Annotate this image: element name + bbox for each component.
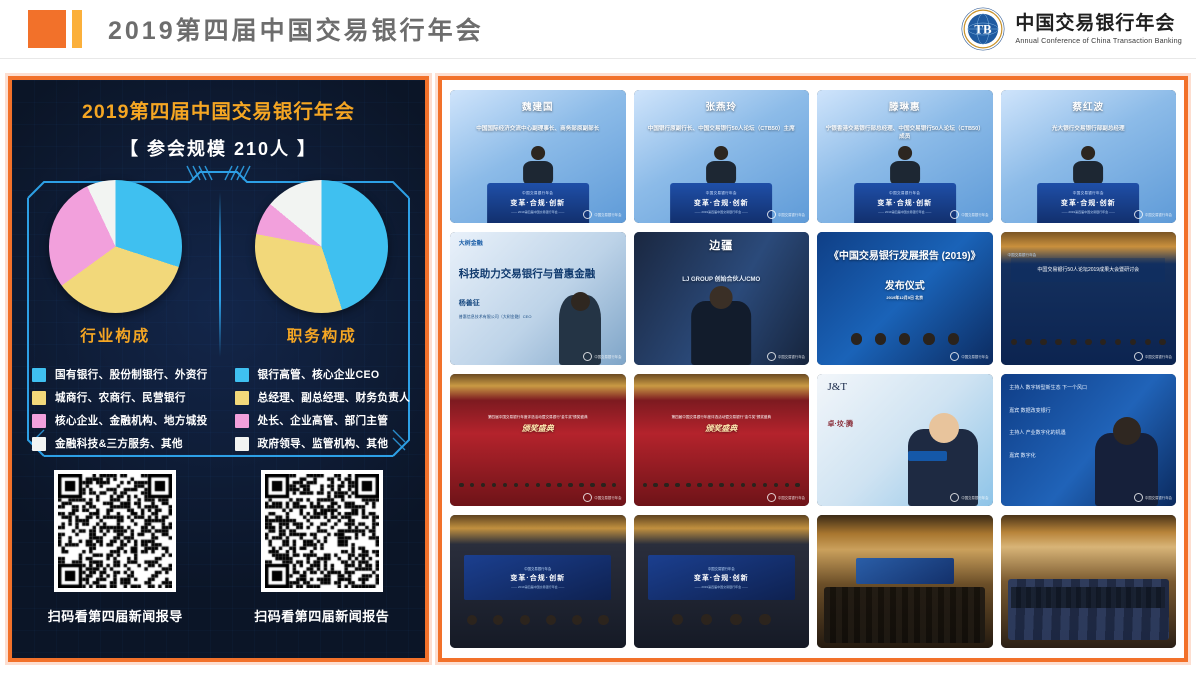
group-person: [555, 483, 564, 488]
group-person: [610, 483, 619, 488]
tb-emblem-icon: TB: [960, 6, 1006, 52]
legend-label: 城商行、农商行、民营银行: [55, 390, 186, 405]
legend-label: 总经理、副总经理、财务负责人: [258, 390, 411, 405]
speaker-role: 宁银香港交易银行部总经理、中国交易银行50人论坛（CTB50）成员: [817, 125, 993, 142]
legend-label: 处长、企业高管、部门主管: [258, 413, 389, 428]
slide-line: 嘉宾 数据改变银行: [1009, 407, 1050, 414]
group-person: [684, 483, 693, 488]
podium: 中国交易银行年会 变革·合规·创新 —— 2019第四届中国交易银行年会 ——: [670, 183, 772, 223]
panelist: [694, 614, 720, 627]
podium: 中国交易银行年会 变革·合规·创新 —— 2019第四届中国交易银行年会 ——: [854, 183, 956, 223]
microphone-icon: [908, 451, 947, 462]
speaker-role: 中国银行原副行长、中国交易银行50人论坛（CTB50）主席: [634, 125, 810, 133]
panelist: [723, 614, 749, 627]
speaker-head: [898, 146, 912, 160]
watermark-label: 中国交易银行年会: [778, 212, 805, 217]
slide-line: 嘉宾 数字化: [1009, 452, 1035, 459]
group-person: [640, 483, 649, 488]
photo-image: 中国交易银行年会 变革·合规·创新 —— 2019第四届中国交易银行年会 ——: [634, 515, 810, 648]
backdrop-brand: J&T: [828, 381, 848, 393]
group-person: [894, 333, 916, 346]
group-person: [1007, 339, 1020, 346]
group-person-head: [1040, 339, 1047, 346]
podium-subtitle: —— 2019第四届中国交易银行年会 ——: [878, 210, 931, 214]
legend-swatch: [235, 437, 249, 451]
speaker-torso: [1073, 161, 1103, 186]
group-person: [870, 333, 892, 346]
orange-square-icon: [28, 10, 66, 48]
group-person: [1067, 339, 1080, 346]
venue-screen: [856, 558, 954, 585]
photo-card[interactable]: 《中国交易银行发展报告 (2019)》 发布仪式 2019年12月5日 北京 中…: [817, 232, 993, 365]
stage-subtitle: —— 2019第四届中国交易银行年会 ——: [511, 585, 564, 589]
group-person-head: [851, 333, 862, 344]
stage-brand: 中国交易银行年会: [524, 566, 551, 571]
ceremony-title: 《中国交易银行发展报告 (2019)》: [817, 250, 993, 265]
pie-position: [255, 180, 388, 313]
infographic-title: 2019第四届中国交易银行年会: [12, 95, 425, 124]
speaker-role: LJ GROUP 创始合伙人/CMO: [634, 274, 810, 283]
pie-charts: 行业构成 职务构成: [12, 180, 425, 346]
pie-industry-label: 行业构成: [80, 324, 150, 346]
group-person-head: [741, 483, 746, 488]
group-person-head: [763, 483, 768, 488]
speaker-name: 杨善征: [459, 298, 480, 308]
group-person-head: [579, 483, 584, 488]
poster-page: 2019第四届中国交易银行年会 TB 中国交易银行年会 Annual Confe…: [0, 0, 1196, 674]
speaker-head: [714, 146, 728, 160]
watermark-logo-icon: [950, 493, 959, 502]
group-person-head: [686, 483, 691, 488]
group-person-head: [481, 483, 486, 488]
group-person-head: [557, 483, 562, 488]
group-person-head: [590, 483, 595, 488]
logo-english-name: Annual Conference of China Transaction B…: [1015, 37, 1182, 44]
photo-card[interactable]: 大树金融 科技助力交易银行与普惠金融 杨善征 普惠信息技术有限公司（大树金融）C…: [450, 232, 626, 365]
group-person: [1127, 339, 1140, 346]
group-person-head: [1159, 339, 1166, 346]
group-person: [651, 483, 660, 488]
watermark-logo-icon: [767, 352, 776, 361]
speaker-head: [1081, 146, 1095, 160]
group-person-head: [752, 483, 757, 488]
podium-slogan: 变革·合规·创新: [510, 198, 565, 208]
speaker-head: [531, 146, 545, 160]
photo-image: 边疆 LJ GROUP 创始合伙人/CMO 中国交易银行年会: [634, 232, 810, 365]
group-person: [1142, 339, 1155, 346]
podium-brand: 中国交易银行年会: [706, 191, 737, 196]
speaker-torso: [523, 161, 553, 186]
qr-block-2[interactable]: 扫码看第四届新闻报告: [219, 470, 426, 625]
group-person-head: [1130, 339, 1137, 346]
photo-image: 滕琳惠 宁银香港交易银行部总经理、中国交易银行50人论坛（CTB50）成员 中国…: [817, 90, 993, 223]
photo-card[interactable]: 边疆 LJ GROUP 创始合伙人/CMO 中国交易银行年会: [634, 232, 810, 365]
qr-caption: 扫码看第四届新闻报导: [48, 606, 183, 625]
legend-swatch: [32, 437, 46, 451]
panelist-head: [572, 615, 582, 625]
legend-industry: 国有银行、股份制银行、外资行 城商行、农商行、民营银行 核心企业、金融机构、地方…: [12, 363, 223, 455]
group-person: [479, 483, 488, 488]
group-person-head: [785, 483, 790, 488]
panelist-head: [546, 615, 556, 625]
photo-card[interactable]: 中国交易银行年会 变革·合规·创新 —— 2019第四届中国交易银行年会 ——: [450, 515, 626, 648]
panelist-head: [701, 614, 712, 625]
photo-card[interactable]: 魏建国 中国国际经济交流中心副理事长、商务部原副部长 中国交易银行年会 变革·合…: [450, 90, 626, 223]
watermark: 中国交易银行年会: [950, 493, 988, 502]
speaker-figure: [523, 146, 553, 188]
group-person: [942, 333, 964, 346]
panelist-head: [598, 615, 608, 625]
watermark-label: 中国交易银行年会: [594, 354, 621, 359]
group-person: [501, 483, 510, 488]
photo-image: 《中国交易银行发展报告 (2019)》 发布仪式 2019年12月5日 北京 中…: [817, 232, 993, 365]
watermark-logo-icon: [1134, 493, 1143, 502]
panelist: [752, 614, 778, 627]
photo-image: 中国交易银行年会 中国交易银行50人论坛2019成果大会暨研讨会: [1001, 232, 1177, 365]
panel-seating: [461, 592, 615, 627]
panelist: [592, 615, 615, 627]
legend-item: 城商行、农商行、民营银行: [32, 386, 223, 409]
podium-subtitle: —— 2019第四届中国交易银行年会 ——: [1062, 210, 1115, 214]
speaker-figure: [691, 301, 751, 365]
group-person-head: [899, 333, 910, 344]
panelist: [539, 615, 562, 627]
svg-text:TB: TB: [975, 23, 993, 37]
interviewee-head: [929, 413, 959, 443]
legend-label: 核心企业、金融机构、地方城投: [55, 413, 208, 428]
chart-position: 职务构成: [219, 180, 426, 346]
group-person: [523, 483, 532, 488]
venue-seating: [824, 587, 985, 643]
legend-label: 国有银行、股份制银行、外资行: [55, 367, 208, 382]
panelist: [566, 615, 589, 627]
group-person: [1156, 339, 1169, 346]
group-person: [739, 483, 748, 488]
watermark-label: 中国交易银行年会: [1145, 354, 1172, 359]
panelist-head: [467, 615, 477, 625]
stage-brand: 中国交易银行年会: [708, 566, 735, 571]
watermark: 中国交易银行年会: [767, 352, 805, 361]
photo-image: 蔡红波 光大银行交易银行部副总经理 中国交易银行年会 变革·合规·创新 —— 2…: [1001, 90, 1177, 223]
photo-image: 大树金融 科技助力交易银行与普惠金融 杨善征 普惠信息技术有限公司（大树金融）C…: [450, 232, 626, 365]
group-person-head: [795, 483, 800, 488]
group-person-head: [675, 483, 680, 488]
watermark-label: 中国交易银行年会: [778, 354, 805, 359]
photo-image: J&T 卓·坟·腾 中国交易银行年会: [817, 374, 993, 507]
yellow-bar-icon: [72, 10, 82, 48]
podium-brand: 中国交易银行年会: [522, 191, 553, 196]
speaker-head: [1113, 417, 1141, 445]
watermark-label: 中国交易银行年会: [961, 212, 988, 217]
group-person: [673, 483, 682, 488]
group-person: [695, 483, 704, 488]
group-person: [577, 483, 586, 488]
group-person: [566, 483, 575, 488]
award-banner-title: 颁奖盛典: [634, 423, 810, 434]
podium-subtitle: —— 2019第四届中国交易银行年会 ——: [695, 210, 748, 214]
speaker-figure: [1073, 146, 1103, 188]
group-person-head: [730, 483, 735, 488]
watermark-logo-icon: [767, 493, 776, 502]
brand-marks: [28, 10, 82, 48]
watermark: 中国交易银行年会: [1134, 352, 1172, 361]
watermark-logo-icon: [1134, 352, 1143, 361]
photo-gallery-panel: 魏建国 中国国际经济交流中心副理事长、商务部原副部长 中国交易银行年会 变革·合…: [438, 76, 1188, 662]
stage-slogan: 变革·合规·创新: [694, 573, 749, 583]
photo-card[interactable]: [1001, 515, 1177, 648]
keynote-title: 科技助力交易银行与普惠金融: [459, 266, 596, 281]
group-photo-row: [641, 440, 802, 488]
watermark: 中国交易银行年会: [583, 352, 621, 361]
group-person: [588, 483, 597, 488]
panelist: [665, 614, 691, 627]
chart-legends: 国有银行、股份制银行、外资行 城商行、农商行、民营银行 核心企业、金融机构、地方…: [12, 363, 425, 455]
group-person-head: [1145, 339, 1152, 346]
photo-image: 第四届中国交易银行年度评选活动暨交易银行"金牛奖"颁奖盛典 颁奖盛典: [450, 374, 626, 507]
group-person-head: [546, 483, 551, 488]
slide-line: 主持人 产业数字化的机遇: [1009, 429, 1065, 436]
podium-subtitle: —— 2019第四届中国交易银行年会 ——: [511, 210, 564, 214]
panelist: [487, 615, 510, 627]
logo-chinese-name: 中国交易银行年会: [1015, 14, 1182, 33]
group-person: [761, 483, 770, 488]
group-person: [845, 333, 867, 346]
legend-swatch: [235, 368, 249, 382]
group-person: [468, 483, 477, 488]
group-person-head: [875, 333, 886, 344]
photo-image: 中国交易银行年会 变革·合规·创新 —— 2019第四届中国交易银行年会 ——: [450, 515, 626, 648]
photo-card[interactable]: 张燕玲 中国银行原副行长、中国交易银行50人论坛（CTB50）主席 中国交易银行…: [634, 90, 810, 223]
watermark-logo-icon: [950, 210, 959, 219]
group-person-head: [492, 483, 497, 488]
group-person: [728, 483, 737, 488]
ceremony-subtitle: 发布仪式: [817, 277, 993, 292]
stage-slogan: 变革·合规·创新: [510, 573, 565, 583]
legend-swatch: [32, 391, 46, 405]
podium-slogan: 变革·合规·创新: [694, 198, 749, 208]
watermark-logo-icon: [583, 210, 592, 219]
chart-industry: 行业构成: [12, 180, 219, 346]
legend-swatch: [32, 368, 46, 382]
group-person: [750, 483, 759, 488]
pie-position-label: 职务构成: [287, 324, 357, 346]
pie-industry: [49, 180, 182, 313]
photo-card[interactable]: J&T 卓·坟·腾 中国交易银行年会: [817, 374, 993, 507]
watermark-label: 中国交易银行年会: [961, 495, 988, 500]
speaker-name: 蔡红波: [1001, 99, 1177, 113]
stage-subtitle: —— 2019第四届中国交易银行年会 ——: [695, 585, 748, 589]
group-person-head: [470, 483, 475, 488]
legend-item: 国有银行、股份制银行、外资行: [32, 363, 223, 386]
group-person-head: [568, 483, 573, 488]
panelist-head: [520, 615, 530, 625]
panelist: [461, 615, 484, 627]
watermark: 中国交易银行年会: [1134, 210, 1172, 219]
banner-brand: 中国交易银行年会: [1008, 253, 1037, 258]
photo-card[interactable]: 第四届中国交易银行年度评选活动暨交易银行"金牛奖"颁奖盛典 颁奖盛典: [634, 374, 810, 507]
legend-position: 银行高管、核心企业CEO 总经理、副总经理、财务负责人 处长、企业高管、部门主管…: [223, 363, 426, 455]
group-person: [782, 483, 791, 488]
watermark-logo-icon: [950, 352, 959, 361]
panelist-head: [672, 614, 683, 625]
group-person: [1112, 339, 1125, 346]
watermark-logo-icon: [583, 493, 592, 502]
group-person-head: [612, 483, 617, 488]
photo-card[interactable]: 蔡红波 光大银行交易银行部副总经理 中国交易银行年会 变革·合规·创新 —— 2…: [1001, 90, 1177, 223]
photo-image: 张燕玲 中国银行原副行长、中国交易银行50人论坛（CTB50）主席 中国交易银行…: [634, 90, 810, 223]
sponsor-brand: 大树金融: [459, 238, 483, 247]
speaker-head: [710, 286, 733, 309]
speaker-figure: [706, 146, 736, 188]
group-photo-row: [1008, 298, 1169, 346]
group-person: [1097, 339, 1110, 346]
photo-image: 魏建国 中国国际经济交流中心副理事长、商务部原副部长 中国交易银行年会 变革·合…: [450, 90, 626, 223]
statistics-panel: 2019第四届中国交易银行年会 【 参会规模 210人 】: [8, 76, 429, 662]
panelist-head: [493, 615, 503, 625]
speaker-name: 张燕玲: [634, 99, 810, 113]
podium: 中国交易银行年会 变革·合规·创新 —— 2019第四届中国交易银行年会 ——: [487, 183, 589, 223]
watermark-label: 中国交易银行年会: [778, 495, 805, 500]
qr-block-1[interactable]: 扫码看第四届新闻报导: [12, 470, 219, 625]
panelist-head: [730, 614, 741, 625]
podium: 中国交易银行年会 变革·合规·创新 —— 2019第四届中国交易银行年会 ——: [1037, 183, 1139, 223]
group-person-head: [948, 333, 959, 344]
photo-card[interactable]: 中国交易银行年会 变革·合规·创新 —— 2019第四届中国交易银行年会 ——: [634, 515, 810, 648]
group-person-head: [1085, 339, 1092, 346]
legend-swatch: [235, 391, 249, 405]
group-person: [662, 483, 671, 488]
watermark: 中国交易银行年会: [583, 493, 621, 502]
page-header: 2019第四届中国交易银行年会 TB 中国交易银行年会 Annual Confe…: [0, 0, 1196, 59]
panel-seating: [644, 592, 798, 627]
watermark-logo-icon: [583, 352, 592, 361]
photo-card[interactable]: 第四届中国交易银行年度评选活动暨交易银行"金牛奖"颁奖盛典 颁奖盛典: [450, 374, 626, 507]
group-person: [599, 483, 608, 488]
group-person-head: [601, 483, 606, 488]
watermark: 中国交易银行年会: [950, 210, 988, 219]
legend-item: 银行高管、核心企业CEO: [235, 363, 426, 386]
watermark: 中国交易银行年会: [767, 210, 805, 219]
infographic: 2019第四届中国交易银行年会 【 参会规模 210人 】: [12, 80, 425, 658]
group-person: [544, 483, 553, 488]
group-person: [706, 483, 715, 488]
page-title: 2019第四届中国交易银行年会: [108, 11, 484, 47]
group-person-head: [653, 483, 658, 488]
photo-card[interactable]: 中国交易银行年会 中国交易银行50人论坛2019成果大会暨研讨会: [1001, 232, 1177, 365]
photo-image: 第四届中国交易银行年度评选活动暨交易银行"金牛奖"颁奖盛典 颁奖盛典: [634, 374, 810, 507]
watermark: 中国交易银行年会: [1134, 493, 1172, 502]
legend-swatch: [235, 414, 249, 428]
speaker-torso: [890, 161, 920, 186]
podium-brand: 中国交易银行年会: [1073, 191, 1104, 196]
speaker-name: 边疆: [634, 237, 810, 253]
group-person: [457, 483, 466, 488]
watermark-label: 中国交易银行年会: [1145, 212, 1172, 217]
qr-caption: 扫码看第四届新闻报告: [254, 606, 389, 625]
group-person-head: [503, 483, 508, 488]
qr-code-news-report-1[interactable]: [54, 470, 176, 592]
group-person: [772, 483, 781, 488]
legend-label: 金融科技&三方服务、其他: [55, 436, 183, 451]
photo-card[interactable]: 主持人 数字转型新生态 下一个风口嘉宾 数据改变银行主持人 产业数字化的机遇嘉宾…: [1001, 374, 1177, 507]
group-person-head: [664, 483, 669, 488]
photo-image: [1001, 515, 1177, 648]
group-person-head: [1025, 339, 1032, 346]
group-person-head: [536, 483, 541, 488]
backdrop-brand-sub: 卓·坟·腾: [828, 419, 854, 429]
podium-slogan: 变革·合规·创新: [1061, 198, 1116, 208]
legend-item: 核心企业、金融机构、地方城投: [32, 409, 223, 432]
watermark: 中国交易银行年会: [950, 352, 988, 361]
logo-text-block: 中国交易银行年会 Annual Conference of China Tran…: [1015, 14, 1182, 44]
group-person: [1082, 339, 1095, 346]
legend-item: 总经理、副总经理、财务负责人: [235, 386, 426, 409]
legend-label: 银行高管、核心企业CEO: [258, 367, 380, 382]
audience-rows: [1011, 587, 1165, 608]
legend-item: 金融科技&三方服务、其他: [32, 432, 223, 455]
photo-grid: 魏建国 中国国际经济交流中心副理事长、商务部原副部长 中国交易银行年会 变革·合…: [442, 80, 1184, 658]
speaker-name: 滕琳惠: [817, 99, 993, 113]
group-person-head: [1055, 339, 1062, 346]
group-person: [533, 483, 542, 488]
photo-image: [817, 515, 993, 648]
group-person-head: [1070, 339, 1077, 346]
group-person-head: [1115, 339, 1122, 346]
speaker-role: 光大银行交易银行部副总经理: [1001, 125, 1177, 133]
qr-code-news-report-2[interactable]: [261, 470, 383, 592]
group-person-head: [774, 483, 779, 488]
group-person: [490, 483, 499, 488]
group-person: [1037, 339, 1050, 346]
watermark-label: 中国交易银行年会: [594, 495, 621, 500]
group-person: [1022, 339, 1035, 346]
podium-slogan: 变革·合规·创新: [877, 198, 932, 208]
group-person: [793, 483, 802, 488]
qr-section: 扫码看第四届新闻报导 扫码看第四届新闻报告: [12, 470, 425, 625]
group-photo-row: [457, 440, 618, 488]
group-person: [918, 333, 940, 346]
group-person-head: [1100, 339, 1107, 346]
watermark-label: 中国交易银行年会: [1145, 495, 1172, 500]
watermark-label: 中国交易银行年会: [961, 354, 988, 359]
group-person-head: [697, 483, 702, 488]
speaker-name: 魏建国: [450, 99, 626, 113]
watermark: 中国交易银行年会: [767, 493, 805, 502]
group-person: [512, 483, 521, 488]
group-person: [1052, 339, 1065, 346]
group-photo-row: [824, 298, 985, 346]
photo-card[interactable]: [817, 515, 993, 648]
legend-swatch: [32, 414, 46, 428]
group-person-head: [643, 483, 648, 488]
photo-card[interactable]: 滕琳惠 宁银香港交易银行部总经理、中国交易银行50人论坛（CTB50）成员 中国…: [817, 90, 993, 223]
legend-item: 处长、企业高管、部门主管: [235, 409, 426, 432]
watermark: 中国交易银行年会: [583, 210, 621, 219]
group-person-head: [923, 333, 934, 344]
group-person-head: [459, 483, 464, 488]
watermark-logo-icon: [767, 210, 776, 219]
group-person-head: [525, 483, 530, 488]
group-person-head: [514, 483, 519, 488]
speaker-torso: [706, 161, 736, 186]
speaker-role: 普惠信息技术有限公司（大树金融）CEO: [459, 314, 556, 320]
slide-line: 主持人 数字转型新生态 下一个风口: [1009, 384, 1087, 391]
event-banner: 中国交易银行50人论坛2019成果大会暨研讨会: [1011, 258, 1165, 282]
watermark-label: 中国交易银行年会: [594, 212, 621, 217]
watermark-logo-icon: [1134, 210, 1143, 219]
award-banner-title: 颁奖盛典: [450, 423, 626, 434]
panelist: [513, 615, 536, 627]
